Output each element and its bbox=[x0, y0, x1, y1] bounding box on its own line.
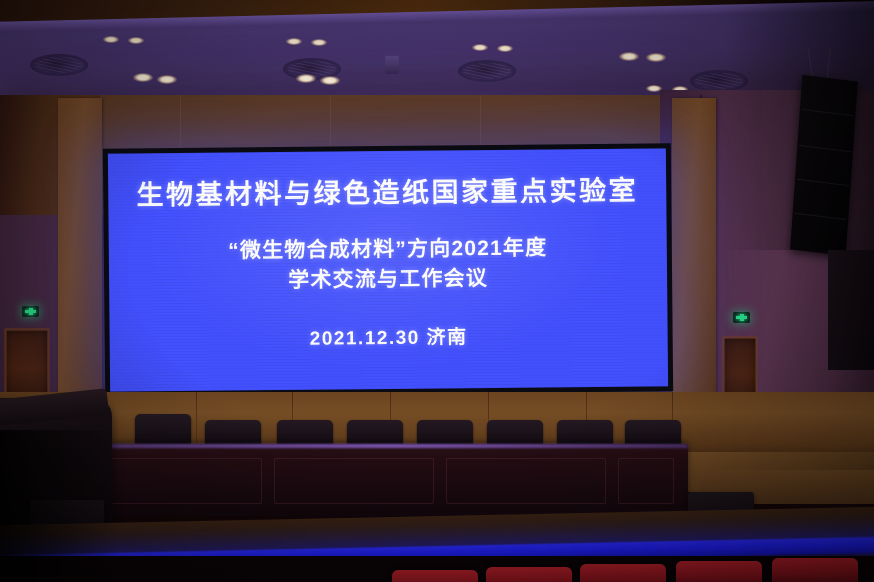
ceiling-speaker bbox=[385, 56, 399, 74]
ceiling-downlight bbox=[320, 76, 340, 85]
chair bbox=[557, 420, 613, 445]
ceiling-downlight bbox=[472, 44, 488, 51]
ceiling-downlight bbox=[133, 73, 153, 82]
chair bbox=[417, 420, 473, 445]
chair bbox=[205, 420, 261, 445]
ceiling-downlight bbox=[103, 36, 119, 43]
wall-speaker-right bbox=[828, 250, 874, 370]
audience-seat bbox=[676, 561, 762, 582]
chair bbox=[135, 414, 191, 446]
audience-seat bbox=[486, 567, 572, 582]
audience-seat bbox=[772, 558, 858, 582]
table-front-panel bbox=[446, 458, 606, 504]
led-display-bezel: 生物基材料与绿色造纸国家重点实验室 “微生物合成材料”方向2021年度 学术交流… bbox=[103, 143, 673, 396]
table-front-panel bbox=[102, 458, 262, 504]
chair bbox=[347, 420, 403, 445]
wall-pilaster-right bbox=[672, 98, 716, 398]
wall-pilaster-left bbox=[58, 98, 102, 398]
slide-subtitle-line1: “微生物合成材料”方向2021年度 bbox=[228, 234, 547, 267]
exit-sign-right bbox=[733, 312, 750, 323]
slide-title: 生物基材料与绿色造纸国家重点实验室 bbox=[136, 175, 638, 212]
ceiling-vent bbox=[458, 60, 516, 82]
ceiling-downlight bbox=[311, 39, 327, 46]
ceiling-downlight bbox=[157, 75, 177, 84]
slide-subtitle: “微生物合成材料”方向2021年度 学术交流与工作会议 bbox=[228, 234, 548, 297]
slide-date-location: 2021.12.30 济南 bbox=[310, 322, 468, 351]
chair bbox=[625, 420, 681, 445]
exit-running-man-icon bbox=[25, 308, 36, 315]
exit-sign-left bbox=[22, 306, 39, 317]
table-front-panel bbox=[618, 458, 674, 504]
ceiling-downlight bbox=[286, 38, 302, 45]
ceiling-vent bbox=[30, 54, 88, 76]
ceiling-downlight bbox=[646, 53, 666, 62]
ceiling-downlight bbox=[497, 45, 513, 52]
ceiling-vent bbox=[690, 70, 748, 92]
ceiling-downlight bbox=[296, 74, 316, 83]
audience-seat bbox=[580, 564, 666, 582]
table-front-panel bbox=[274, 458, 434, 504]
audience-seat bbox=[392, 570, 478, 582]
ceiling-downlight bbox=[619, 52, 639, 61]
exit-running-man-icon bbox=[736, 314, 747, 321]
auditorium-scene: 生物基材料与绿色造纸国家重点实验室 “微生物合成材料”方向2021年度 学术交流… bbox=[0, 0, 874, 582]
slide-subtitle-line2: 学术交流与工作会议 bbox=[228, 264, 547, 297]
audience-seating-row bbox=[0, 556, 874, 582]
chair bbox=[277, 420, 333, 445]
chair bbox=[487, 420, 543, 445]
ceiling-downlight bbox=[128, 37, 144, 44]
led-display-screen: 生物基材料与绿色造纸国家重点实验室 “微生物合成材料”方向2021年度 学术交流… bbox=[108, 148, 668, 391]
head-table bbox=[88, 444, 688, 516]
